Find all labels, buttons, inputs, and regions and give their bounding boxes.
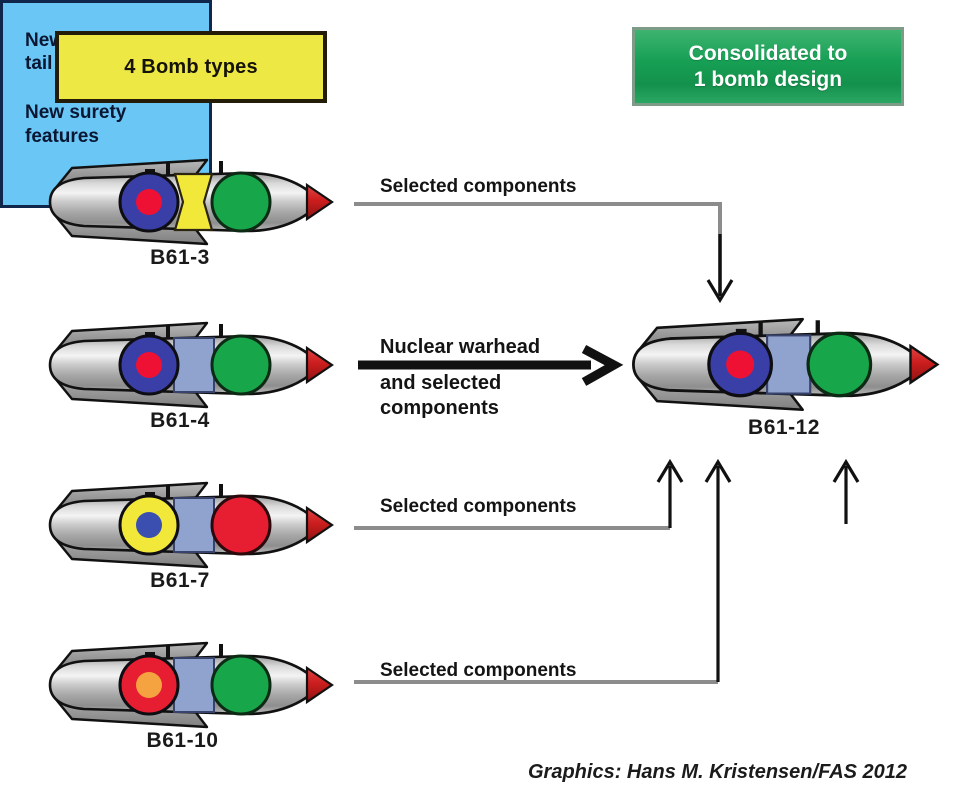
bomb-mid-section — [767, 335, 810, 393]
bomb-b61-4: B61-4 — [32, 313, 352, 418]
bomb-nose-tip — [307, 668, 332, 702]
bomb-rear-component-center — [136, 352, 162, 378]
consolidated-header-line1: Consolidated to — [689, 42, 848, 65]
bomb-front-component — [212, 336, 270, 394]
bomb-nose-tip — [307, 185, 332, 219]
credit-text: Graphics: Hans M. Kristensen/FAS 2012 — [528, 761, 907, 784]
connector-b61-10-label: Selected components — [380, 660, 576, 682]
bomb-b61-3-label: B61-3 — [120, 246, 240, 270]
bomb-rear-component-center — [726, 350, 754, 378]
consolidated-header-label: Consolidated to 1 bomb design — [689, 41, 848, 92]
bomb-b61-12: B61-12 — [614, 306, 955, 424]
connector-b61-4-label-line1: Nuclear warhead — [380, 334, 540, 361]
new-features-line4: features — [25, 125, 209, 148]
bomb-b61-10-graphic — [32, 633, 352, 738]
bomb-mid-section — [174, 498, 214, 552]
bomb-b61-3: B61-3 — [32, 150, 352, 255]
consolidated-header-line2: 1 bomb design — [694, 68, 842, 91]
bomb-types-header-label: 4 Bomb types — [124, 56, 258, 79]
bomb-front-component — [212, 173, 270, 231]
bomb-mid-section — [174, 338, 214, 392]
bomb-front-component — [212, 496, 270, 554]
bomb-b61-4-label: B61-4 — [120, 409, 240, 433]
bomb-b61-12-label: B61-12 — [714, 416, 854, 440]
bomb-front-component — [212, 656, 270, 714]
bomb-mid-section — [174, 658, 214, 712]
connector-b61-4-label-line2: and selected — [380, 370, 501, 397]
connector-new-features-arrow — [828, 460, 868, 530]
bomb-b61-12-graphic — [614, 306, 955, 424]
bomb-b61-4-graphic — [32, 313, 352, 418]
bomb-b61-7: B61-7 — [32, 473, 352, 578]
consolidated-header-box: Consolidated to 1 bomb design — [632, 27, 904, 106]
bomb-b61-10: B61-10 — [32, 633, 352, 738]
bomb-nose-tip — [307, 508, 332, 542]
bomb-rear-component-center — [136, 672, 162, 698]
bomb-b61-7-graphic — [32, 473, 352, 578]
bomb-nose-tip — [307, 348, 332, 382]
bomb-b61-10-label: B61-10 — [115, 729, 250, 753]
bomb-rear-component-center — [136, 512, 162, 538]
connector-b61-3-label: Selected components — [380, 176, 576, 198]
bomb-rear-component-center — [136, 189, 162, 215]
connector-b61-10-arrow — [352, 460, 752, 690]
bomb-b61-3-graphic — [32, 150, 352, 255]
bomb-nose-tip — [910, 346, 937, 383]
connector-b61-4-label-line3: components — [380, 395, 499, 422]
diagram-canvas: 4 Bomb types Consolidated to 1 bomb desi… — [0, 0, 955, 800]
new-features-line3: New surety — [25, 101, 209, 124]
bomb-front-component — [808, 333, 871, 396]
bomb-b61-7-label: B61-7 — [120, 569, 240, 593]
connector-b61-3-arrow — [352, 198, 742, 308]
bomb-types-header-box: 4 Bomb types — [55, 31, 327, 103]
